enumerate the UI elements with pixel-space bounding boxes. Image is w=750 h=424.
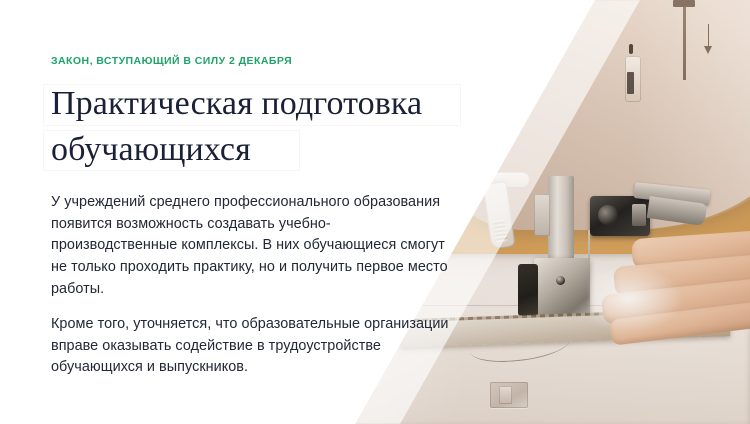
body-paragraph-2: Кроме того, уточняется, что образователь… — [51, 314, 451, 379]
body-paragraph-1: У учреждений среднего профессионального … — [51, 192, 451, 300]
page-title-line-2: обучающихся — [51, 127, 451, 173]
page-title-line-1: Практическая подготовка — [51, 81, 451, 127]
infographic-card: ЗАКОН, ВСТУПАЮЩИЙ В СИЛУ 2 ДЕКАБРЯ Практ… — [0, 0, 750, 424]
hand-guiding-fabric — [596, 230, 750, 350]
needle-position-slot — [625, 56, 641, 102]
highlight-glow — [590, 264, 686, 334]
thread-guide-rail — [683, 0, 686, 80]
page-title: Практическая подготовка обучающихся — [51, 81, 451, 172]
body-copy: У учреждений среднего профессионального … — [51, 192, 451, 379]
machine-body-arrow-icon — [702, 12, 716, 60]
text-content: ЗАКОН, ВСТУПАЮЩИЙ В СИЛУ 2 ДЕКАБРЯ Практ… — [51, 55, 451, 379]
needle-bar — [548, 176, 574, 260]
eyebrow-kicker: ЗАКОН, ВСТУПАЮЩИЙ В СИЛУ 2 ДЕКАБРЯ — [51, 55, 451, 67]
presser-foot-screw — [556, 276, 565, 285]
bobbin-cover-window — [490, 382, 528, 408]
